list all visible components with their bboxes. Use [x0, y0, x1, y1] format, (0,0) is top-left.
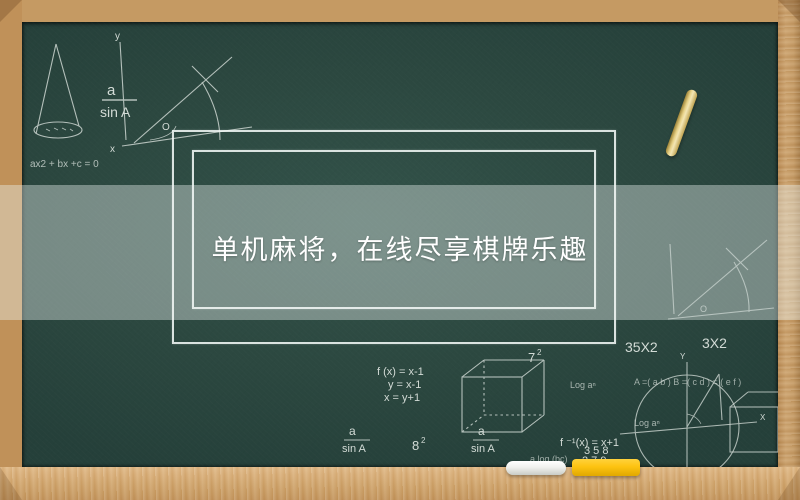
doodle-text-fn1: f (x) = x-1 — [377, 366, 424, 378]
doodle-text-frac2-den: sin A — [342, 443, 367, 455]
doodle-text-axis-y-tl: y — [115, 31, 120, 42]
doodle-text-eight: 8 — [412, 438, 419, 453]
doodle-text-mult2: 3X2 — [702, 335, 727, 351]
doodle-text-axis-x-br: X — [760, 413, 766, 422]
doodle-text-log-an2: Log aⁿ — [570, 380, 596, 390]
doodle-cube-left — [462, 360, 544, 432]
doodle-text-frac2-num: a — [349, 424, 356, 438]
frame-miter-bottom-right — [778, 467, 800, 500]
doodle-text-angle-tl: O — [162, 122, 170, 133]
doodle-text-fn3: x = y+1 — [384, 392, 420, 404]
doodle-text-log-an: Log aⁿ — [634, 418, 660, 428]
doodle-text-fn2: y = x-1 — [388, 379, 421, 391]
frame-miter-top-left — [0, 0, 22, 22]
doodle-text-frac3-num: a — [478, 424, 485, 438]
frame-miter-bottom-left — [0, 467, 22, 500]
doodle-text-axis-x-tl: x — [110, 144, 115, 155]
chalkboard-banner: a sin A ax2 + bx +c = 0 y x O f (x) = x-… — [0, 0, 800, 500]
doodle-text-seven-exp: 2 — [537, 348, 542, 357]
doodle-text-angle-right: O — [700, 304, 707, 314]
doodle-text-axis-y-br: Y — [680, 352, 686, 361]
doodle-text-sub-top: 3 5 8 — [584, 445, 608, 457]
doodle-text-mult1: 35X2 — [625, 339, 658, 355]
wooden-frame-ledge — [0, 467, 800, 500]
doodle-text-eight-exp: 2 — [421, 436, 426, 445]
doodle-cone — [34, 44, 82, 138]
doodle-text-frac3-den: sin A — [471, 443, 496, 455]
wooden-frame-top — [0, 0, 800, 22]
doodle-text-sina-den: sin A — [100, 104, 131, 120]
banner-title: 单机麻将，在线尽享棋牌乐趣 — [0, 228, 800, 272]
doodle-text-inverse-fn: f ⁻¹(x) = x+1 — [560, 437, 619, 449]
yellow-chalk-eraser-icon — [572, 459, 640, 476]
doodle-text-seven: 7 — [528, 350, 535, 365]
white-chalk-piece-icon — [506, 461, 566, 475]
doodle-text-a-num: a — [107, 82, 116, 99]
doodle-unit-circle — [620, 362, 757, 467]
doodle-text-matrix: A =( a b ) B =( c d ) = ( e f ) — [634, 377, 741, 387]
doodle-text-quadratic: ax2 + bx +c = 0 — [30, 159, 99, 170]
frame-miter-top-right — [778, 0, 800, 22]
doodle-cube-right — [730, 392, 778, 452]
